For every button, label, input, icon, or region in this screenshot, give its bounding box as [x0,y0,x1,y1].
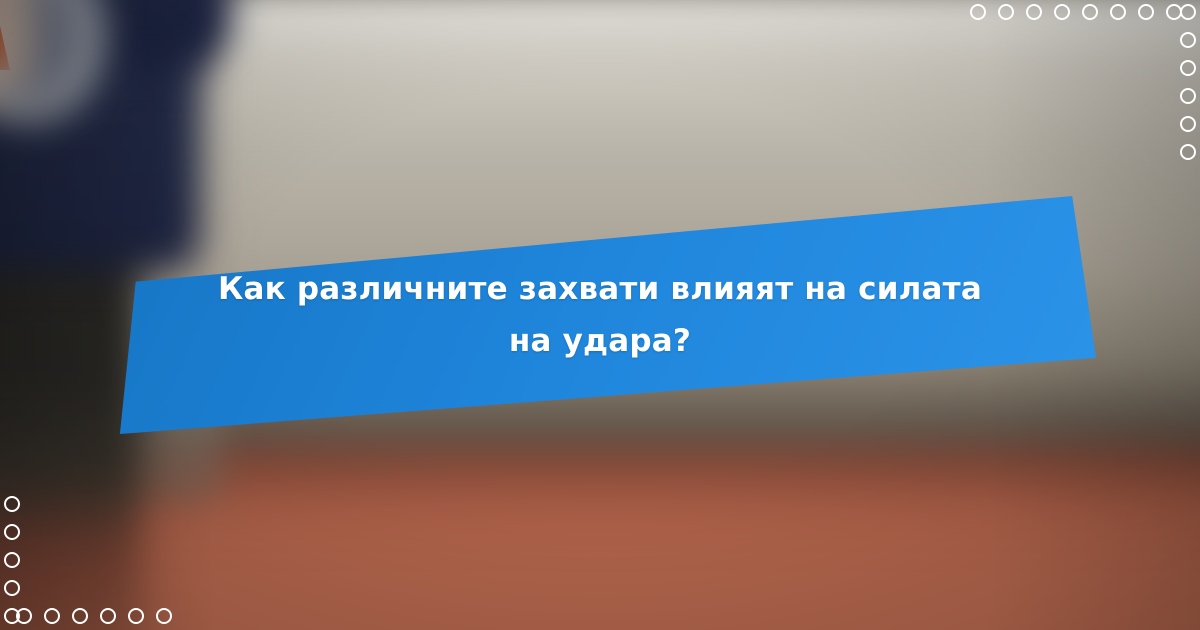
decorative-dot [1180,116,1196,132]
decorative-dot [1180,88,1196,104]
decorative-dots-left [4,496,20,624]
share-card: Как различните захвати влияят на силата … [0,0,1200,630]
decorative-dot [72,608,88,624]
decorative-dot [128,608,144,624]
decorative-dot [1138,4,1154,20]
decorative-dot [4,580,20,596]
decorative-dot [1026,4,1042,20]
decorative-dot [1180,32,1196,48]
decorative-dot [4,608,20,624]
decorative-dot [1180,4,1196,20]
decorative-dots-bottom-left [16,608,172,624]
decorative-dot [4,496,20,512]
decorative-dot [998,4,1014,20]
decorative-dot [156,608,172,624]
decorative-dots-right [1180,4,1196,160]
decorative-dot [1082,4,1098,20]
decorative-dot [1054,4,1070,20]
decorative-dot [970,4,986,20]
decorative-dots-top-right [970,4,1182,20]
decorative-dot [4,524,20,540]
headline-text: Как различните захвати влияят на силата … [205,263,995,367]
decorative-dot [4,552,20,568]
decorative-dot [44,608,60,624]
decorative-dot [100,608,116,624]
decorative-dot [1180,60,1196,76]
decorative-dot [1110,4,1126,20]
decorative-dot [1180,144,1196,160]
